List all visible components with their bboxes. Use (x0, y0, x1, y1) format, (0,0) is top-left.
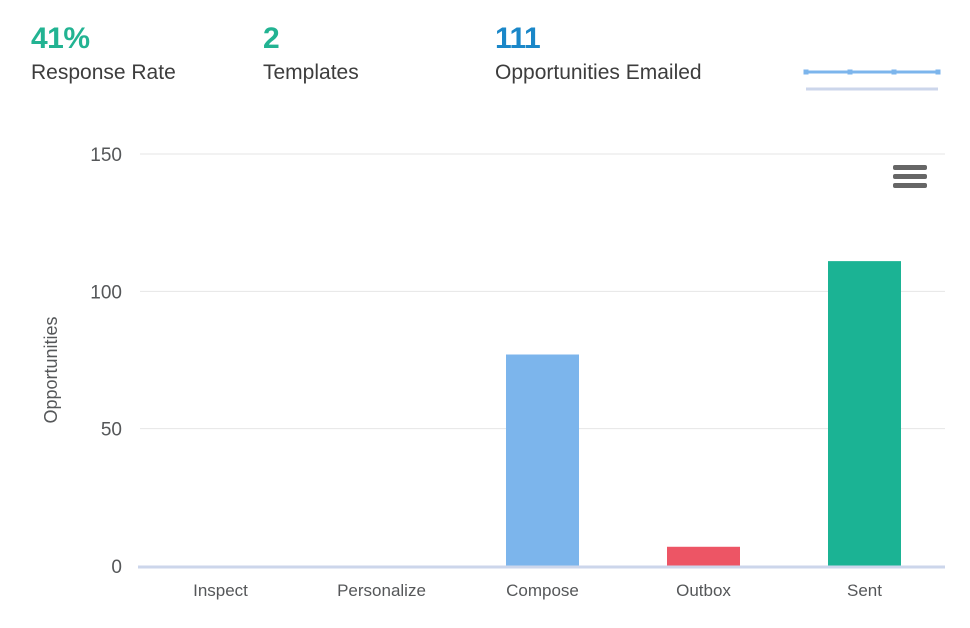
sparkline-point (848, 70, 853, 75)
y-tick-label: 100 (90, 282, 122, 303)
kpi-response-rate: 41% Response Rate (31, 22, 176, 87)
sparkline-chart (802, 58, 942, 98)
chart-y-axis-title: Opportunities (41, 316, 61, 423)
kpi-response-rate-label: Response Rate (31, 59, 176, 87)
x-tick-label: Inspect (193, 581, 248, 600)
sparkline-point (804, 70, 809, 75)
kpi-opportunities-emailed-value: 111 (495, 22, 702, 56)
chart-bars (506, 261, 901, 566)
sparkline-point (936, 70, 941, 75)
y-tick-label: 0 (111, 557, 122, 578)
kpi-opportunities-emailed-label: Opportunities Emailed (495, 59, 702, 87)
chart-y-tick-labels: 050100150 (90, 145, 122, 578)
chart-bar[interactable] (828, 261, 901, 566)
x-tick-label: Compose (506, 581, 579, 600)
hamburger-icon[interactable] (893, 161, 931, 191)
chart-x-tick-labels: InspectPersonalizeComposeOutboxSent (193, 581, 882, 600)
hamburger-bar-3 (893, 183, 927, 188)
y-axis-title: Opportunities (41, 316, 61, 423)
x-tick-label: Personalize (337, 581, 426, 600)
sparkline-svg (802, 58, 942, 98)
kpi-summary-bar: 41% Response Rate 2 Templates 111 Opport… (0, 0, 970, 110)
y-tick-label: 50 (101, 420, 122, 441)
kpi-templates-value: 2 (263, 22, 359, 56)
kpi-templates: 2 Templates (263, 22, 359, 87)
x-tick-label: Outbox (676, 581, 731, 600)
kpi-templates-label: Templates (263, 59, 359, 87)
sparkline-point (892, 70, 897, 75)
hamburger-bar-2 (893, 174, 927, 179)
chart-svg: 050100150 InspectPersonalizeComposeOutbo… (0, 110, 970, 628)
y-tick-label: 150 (90, 145, 122, 166)
chart-bar[interactable] (667, 547, 740, 566)
opportunities-funnel-chart: 050100150 InspectPersonalizeComposeOutbo… (0, 110, 970, 628)
hamburger-bar-1 (893, 165, 927, 170)
chart-bar[interactable] (506, 355, 579, 566)
kpi-response-rate-value: 41% (31, 22, 176, 56)
x-tick-label: Sent (847, 581, 882, 600)
kpi-opportunities-emailed: 111 Opportunities Emailed (495, 22, 702, 87)
